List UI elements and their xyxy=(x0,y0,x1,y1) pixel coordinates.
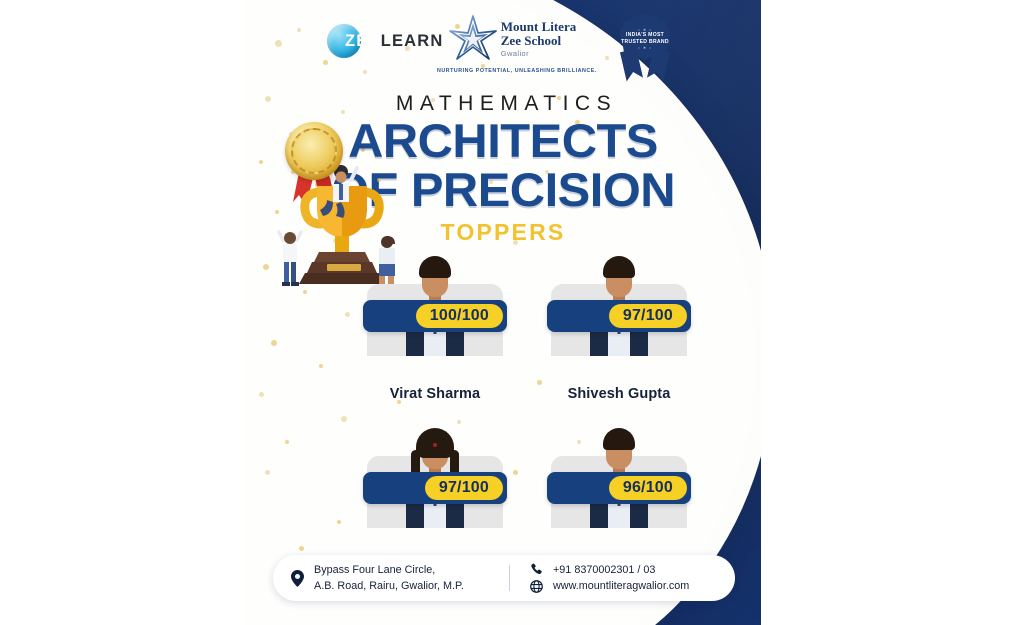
badge-dots-bottom: • ★ • xyxy=(638,46,652,50)
topper-card: 97/100 Shivesh Gupta xyxy=(551,250,687,402)
address-line-1: Bypass Four Lane Circle, xyxy=(314,563,464,577)
topper-card: 96/100 Krishiv Singh xyxy=(551,422,687,574)
trophy-celebration-icon xyxy=(275,158,407,293)
website-url[interactable]: www.mountliteragwalior.com xyxy=(553,579,689,593)
school-name-line1: Mount Litera xyxy=(501,20,576,34)
trusted-brand-badge: • ★ • INDIA'S MOST TRUSTED BRAND • ★ • xyxy=(613,14,677,84)
school-city: Gwalior xyxy=(501,49,576,58)
zeelearn-wordmark: ZEELEARN xyxy=(345,24,444,58)
score-badge: 100/100 xyxy=(363,300,507,332)
subject-heading: MATHEMATICS xyxy=(245,92,761,116)
score-badge: 97/100 xyxy=(547,300,691,332)
phone-icon xyxy=(528,563,544,576)
contact-block: +91 8370002301 / 03 www.mountliteragwali… xyxy=(510,555,735,601)
student-photo-frame: 96/100 xyxy=(551,456,687,528)
student-photo-frame: 97/100 xyxy=(551,284,687,356)
score-value: 97/100 xyxy=(609,304,687,328)
score-value: 96/100 xyxy=(609,476,687,500)
student-name: Virat Sharma xyxy=(367,386,503,402)
badge-line1: INDIA'S MOST xyxy=(626,32,664,39)
medal-inner-ring xyxy=(291,128,337,174)
zeelearn-logo: ZEELEARN xyxy=(327,24,444,58)
poster-canvas: ZEELEARN xyxy=(0,0,1025,625)
address-block: Bypass Four Lane Circle, A.B. Road, Rair… xyxy=(273,555,509,601)
toppers-grid: 100/100 Virat Sharma 97/100 Shivesh Gupt… xyxy=(245,250,761,574)
zeelearn-learn-text: LEARN xyxy=(381,32,444,50)
school-tagline: NURTURING POTENTIAL, UNLEASHING BRILLIAN… xyxy=(437,68,587,74)
poster-header: ZEELEARN xyxy=(245,8,761,82)
student-bindi xyxy=(433,443,437,447)
student-hair xyxy=(419,256,451,278)
medal-disc-icon xyxy=(285,122,343,180)
phone-number[interactable]: +91 8370002301 / 03 xyxy=(553,563,655,577)
topper-card: 97/100 Ananya Tomar xyxy=(367,422,503,574)
student-photo-frame: 100/100 xyxy=(367,284,503,356)
student-hair xyxy=(603,256,635,278)
score-value: 100/100 xyxy=(416,304,503,328)
globe-icon xyxy=(528,580,544,593)
address-line-2: A.B. Road, Rairu, Gwalior, M.P. xyxy=(314,579,464,593)
student-photo-frame: 97/100 xyxy=(367,456,503,528)
score-badge: 96/100 xyxy=(547,472,691,504)
score-badge: 97/100 xyxy=(363,472,507,504)
star-logo-icon xyxy=(448,14,498,64)
school-logo: Mount Litera Zee School Gwalior NURTURIN… xyxy=(437,14,587,74)
student-hair xyxy=(603,428,635,450)
score-value: 97/100 xyxy=(425,476,503,500)
contact-footer: Bypass Four Lane Circle, A.B. Road, Rair… xyxy=(273,555,735,601)
zeelearn-zee-text: ZEE xyxy=(345,32,381,50)
poster: ZEELEARN xyxy=(245,0,761,625)
student-name: Shivesh Gupta xyxy=(551,386,687,402)
location-pin-icon xyxy=(289,570,305,587)
school-name-line2: Zee School xyxy=(501,34,576,48)
